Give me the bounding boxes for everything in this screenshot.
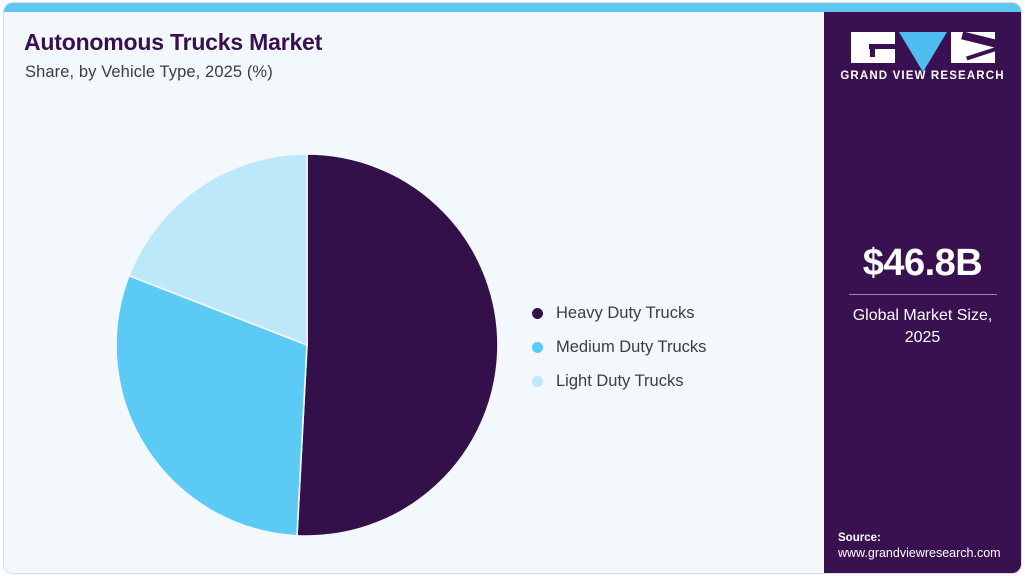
stat-highlight: $46.8B Global Market Size, 2025 <box>824 244 1021 348</box>
stat-caption: Global Market Size, 2025 <box>824 305 1021 348</box>
letter-g-block-icon <box>851 32 895 63</box>
legend-swatch-icon <box>532 308 543 319</box>
legend-item[interactable]: Heavy Duty Trucks <box>532 296 706 330</box>
stat-divider <box>849 294 997 295</box>
pie-chart-svg <box>112 150 502 540</box>
page-title: Autonomous Trucks Market <box>24 29 322 56</box>
legend-item-label: Heavy Duty Trucks <box>556 304 694 323</box>
source-url[interactable]: www.grandviewresearch.com <box>838 546 1015 560</box>
stat-value: $46.8B <box>824 244 1021 282</box>
letter-v-triangle-icon <box>899 32 947 72</box>
page-subtitle: Share, by Vehicle Type, 2025 (%) <box>25 63 273 82</box>
top-accent-bar <box>4 3 1021 12</box>
legend-swatch-icon <box>532 376 543 387</box>
letter-r-block-icon <box>951 32 995 63</box>
chart-legend: Heavy Duty TrucksMedium Duty TrucksLight… <box>532 296 706 398</box>
legend-item[interactable]: Medium Duty Trucks <box>532 330 706 364</box>
side-panel: GRAND VIEW RESEARCH $46.8B Global Market… <box>824 12 1021 573</box>
source-label: Source: <box>838 532 1015 544</box>
source-block: Source: www.grandviewresearch.com <box>838 532 1015 560</box>
chart-card: Autonomous Trucks Market Share, by Vehic… <box>4 3 1021 573</box>
legend-item-label: Medium Duty Trucks <box>556 338 706 357</box>
legend-item[interactable]: Light Duty Trucks <box>532 364 706 398</box>
legend-item-label: Light Duty Trucks <box>556 372 683 391</box>
chart-body: Autonomous Trucks Market Share, by Vehic… <box>4 12 824 573</box>
logo-marks <box>851 32 995 63</box>
brand-logo: GRAND VIEW RESEARCH <box>824 32 1021 82</box>
legend-swatch-icon <box>532 342 543 353</box>
pie-slice[interactable] <box>297 154 498 536</box>
chart-canvas: Autonomous Trucks Market Share, by Vehic… <box>0 0 1025 576</box>
pie-chart <box>112 150 502 540</box>
logo-wordmark: GRAND VIEW RESEARCH <box>840 70 1004 82</box>
